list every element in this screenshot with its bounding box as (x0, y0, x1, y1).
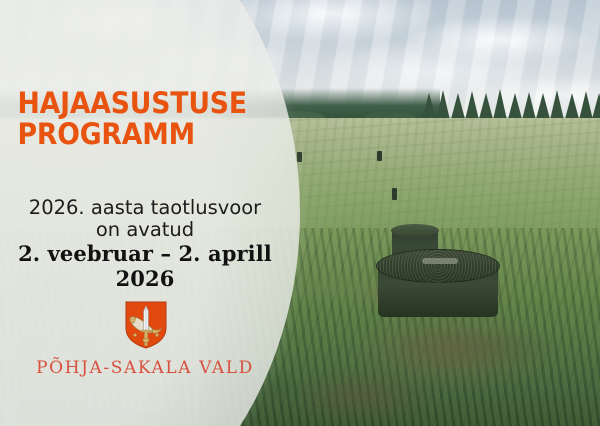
poster-content: HAJAASUSTUSE PROGRAMM 2026. aasta taotlu… (0, 0, 300, 426)
subtitle-line-2: on avatud (0, 218, 290, 241)
conifer-treeline (420, 85, 600, 121)
dirt-patch-lower (300, 300, 600, 426)
municipality-wordmark: PÕHJA-SAKALA VALD (0, 358, 290, 378)
poster: HAJAASUSTUSE PROGRAMM 2026. aasta taotlu… (0, 0, 600, 426)
headline-line-1: HAJAASUSTUSE (0, 86, 293, 120)
field-marker-post (392, 188, 397, 200)
field-marker-post (377, 151, 382, 161)
application-period-dates: 2. veebruar – 2. aprill 2026 (0, 241, 290, 291)
subtitle-line-1: 2026. aasta taotlusvoor (0, 197, 290, 220)
septic-tank-large (378, 265, 498, 317)
headline-line-2: PROGRAMM (0, 117, 293, 151)
coat-of-arms-icon (125, 301, 167, 349)
